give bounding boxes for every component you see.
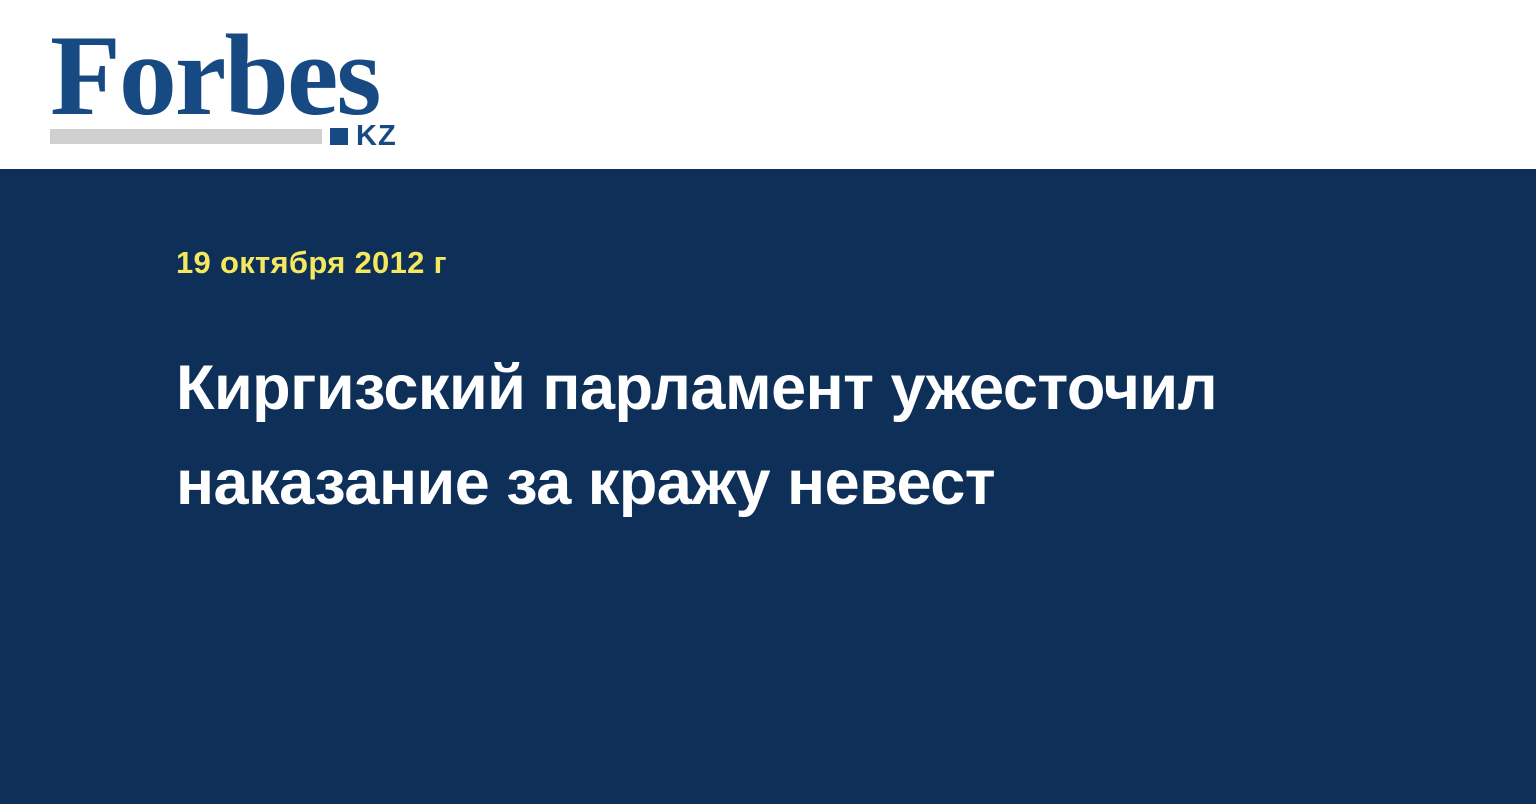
forbes-wordmark: Forbes: [50, 18, 380, 134]
forbes-kz-logo[interactable]: Forbes KZ: [50, 18, 410, 148]
blue-square-icon: [330, 128, 348, 145]
logo-country-code: KZ: [356, 122, 397, 151]
article-headline: Киргизский парламент ужесточил наказание…: [176, 341, 1406, 531]
site-header: Forbes KZ: [0, 0, 1536, 169]
logo-underbar: [50, 129, 322, 144]
article-hero: 19 октября 2012 г Киргизский парламент у…: [0, 169, 1536, 804]
article-date: 19 октября 2012 г: [176, 245, 447, 281]
article-page: Forbes KZ 19 октября 2012 г Киргизский п…: [0, 0, 1536, 804]
